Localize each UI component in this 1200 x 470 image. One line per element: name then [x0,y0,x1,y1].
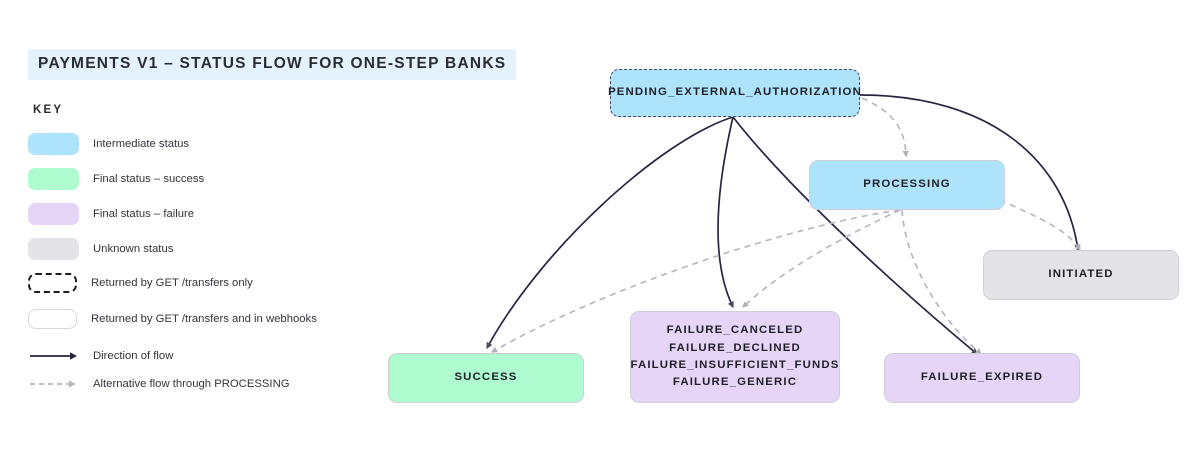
diagram-canvas: PAYMENTS V1 – STATUS FLOW FOR ONE-STEP B… [0,0,1200,470]
node-failures[interactable]: FAILURE_CANCELED FAILURE_DECLINED FAILUR… [630,311,840,403]
node-label: SUCCESS [454,369,517,386]
edge-pending-to-failures [718,117,733,307]
node-initiated[interactable]: INITIATED [983,250,1179,300]
node-pending-external-authorization[interactable]: PENDING_EXTERNAL_AUTHORIZATION [610,69,860,117]
node-label: INITIATED [1048,266,1113,283]
node-label: FAILURE_CANCELED FAILURE_DECLINED FAILUR… [631,322,840,391]
edge-processing-to-initiated [1000,200,1080,250]
edge-processing-to-expired [902,210,981,354]
edge-processing-to-failures [743,210,900,307]
edge-pending-to-processing [862,98,906,156]
node-label: FAILURE_EXPIRED [921,369,1043,386]
node-success[interactable]: SUCCESS [388,353,584,403]
node-failure-expired[interactable]: FAILURE_EXPIRED [884,353,1080,403]
node-label: PENDING_EXTERNAL_AUTHORIZATION [608,84,862,101]
node-processing[interactable]: PROCESSING [809,160,1005,210]
node-label: PROCESSING [863,176,950,193]
